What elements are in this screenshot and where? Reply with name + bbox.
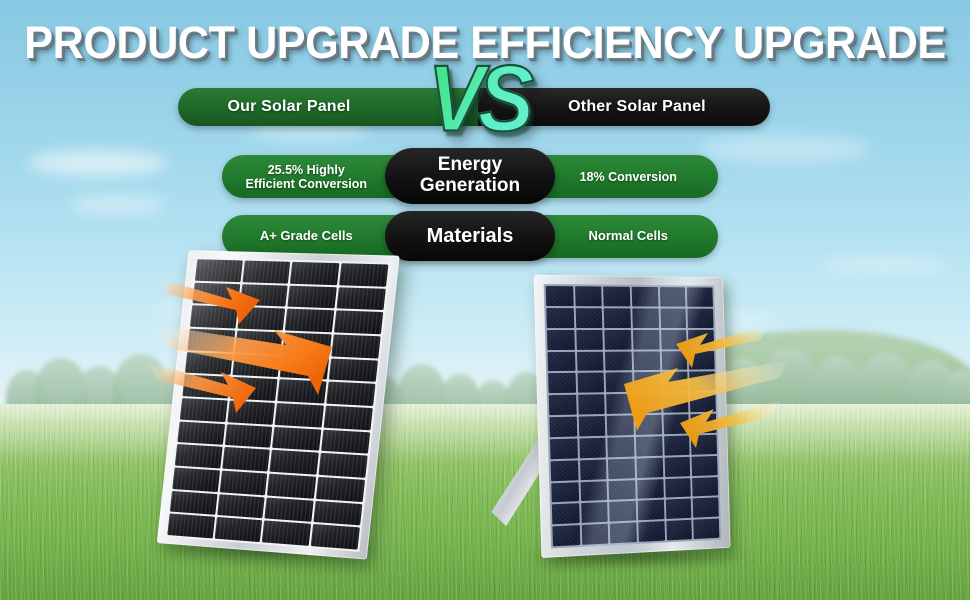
our-product-label: Our Solar Panel [227,98,428,116]
our-value-line1: 25.5% Highly [224,163,389,177]
right-panel-cell-grid [544,284,722,549]
other-value-materials: Normal Cells [539,229,718,244]
left-panel-frame [157,250,400,559]
other-product-label: Other Solar Panel [542,98,706,116]
product-comparison-infographic: PRODUCT UPGRADE EFFICIENCY UPGRADE Our S… [0,0,970,600]
our-value-energy-generation: 25.5% Highly Efficient Conversion [224,163,389,191]
cloud-icon [28,150,168,176]
feature-line1: Energy [420,155,520,176]
other-solar-panel-image [534,275,731,558]
cloud-icon [70,196,165,214]
other-value-energy-generation: 18% Conversion [539,170,718,184]
vs-badge: VS [418,46,538,149]
our-solar-panel-image [157,250,400,559]
left-panel-cell-grid [165,257,391,552]
right-panel-frame [534,275,731,558]
horizon-haze [0,404,970,464]
cloud-icon [700,135,870,163]
our-value-line2: Efficient Conversion [224,177,389,191]
feature-line2: Generation [420,176,520,197]
feature-label-energy-generation: Energy Generation [385,148,555,204]
cloud-icon [820,255,950,275]
feature-label-materials: Materials [385,211,555,261]
our-value-materials: A+ Grade Cells [224,229,389,244]
